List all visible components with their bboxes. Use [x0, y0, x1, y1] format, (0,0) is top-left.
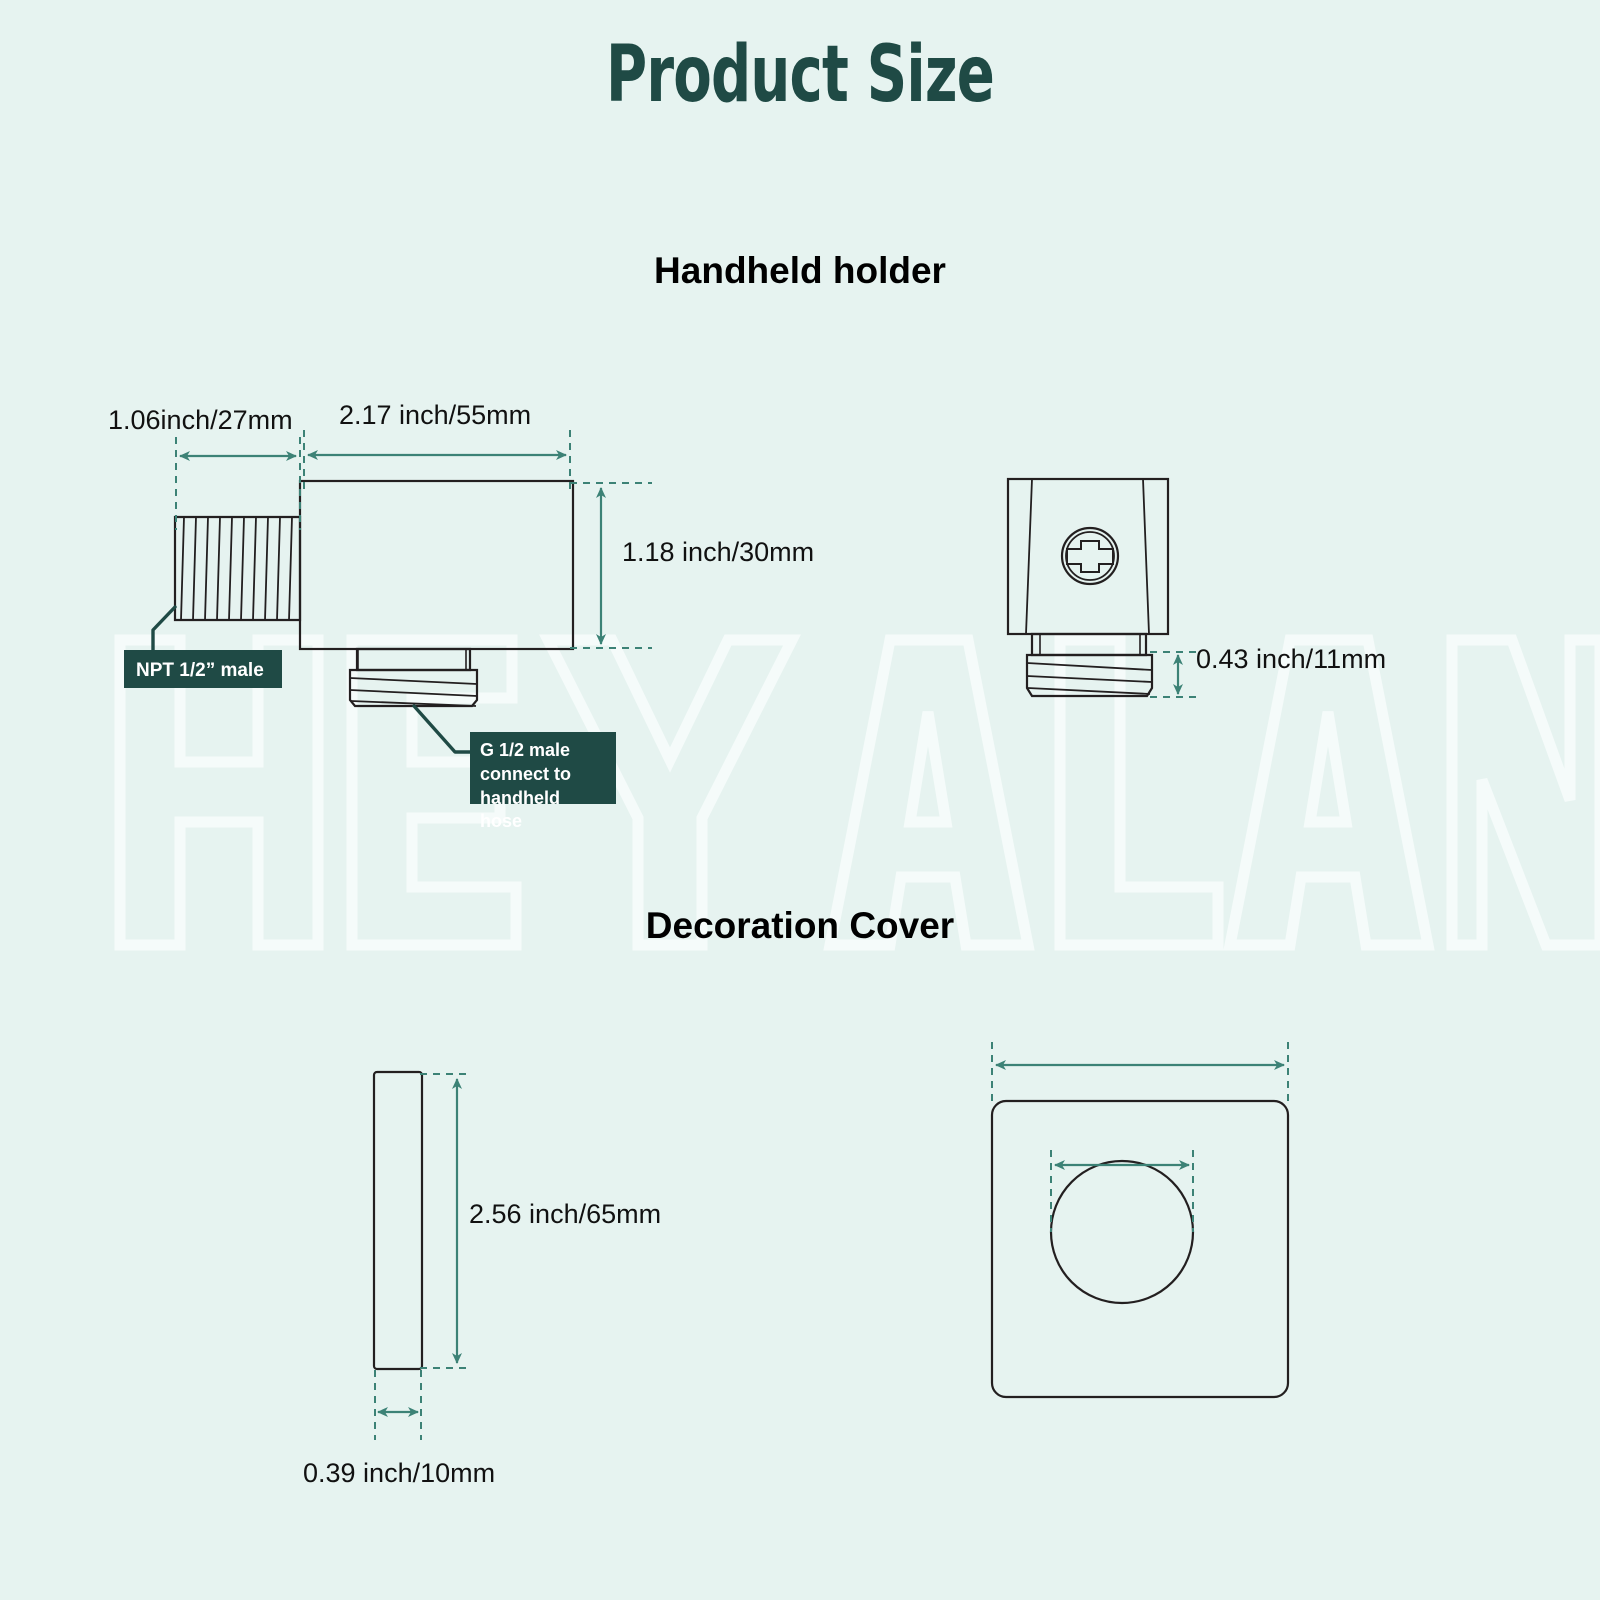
- holder-front-view: [1008, 479, 1168, 696]
- diagram-canvas: Product Size Handheld holder Decoration …: [0, 0, 1600, 1600]
- dimline-cover-hole-diameter: [1051, 1150, 1193, 1232]
- dim-label-body-width: 2.17 inch/55mm: [339, 400, 531, 431]
- decoration-cover-face-view: [992, 1101, 1288, 1397]
- g-half-male-boss-side: [350, 649, 477, 706]
- holder-body-side: [300, 481, 573, 649]
- cover-center-hole: [1051, 1161, 1193, 1303]
- callout-g-half-male: G 1/2 male connect to handheld hose: [470, 732, 616, 804]
- dim-label-body-height: 1.18 inch/30mm: [622, 537, 814, 568]
- dimline-cover-thickness: [375, 1370, 421, 1440]
- dim-label-cover-height: 2.56 inch/65mm: [469, 1199, 661, 1230]
- dim-label-npt-thread-length: 1.06inch/27mm: [108, 405, 293, 436]
- dim-label-cover-thickness: 0.39 inch/10mm: [303, 1458, 495, 1489]
- phillips-screw-icon: [1062, 528, 1118, 584]
- leader-npt: [153, 607, 175, 652]
- leader-g12: [414, 706, 474, 752]
- dim-label-g12-thread-length: 0.43 inch/11mm: [1196, 644, 1386, 675]
- dimline-cover-height: [420, 1074, 470, 1368]
- dimline-cover-face-width: [992, 1042, 1288, 1104]
- npt-male-thread: [175, 517, 300, 620]
- callout-npt-male: NPT 1/2” male: [124, 650, 282, 688]
- decoration-cover-edge-view: [374, 1072, 422, 1369]
- technical-drawing: [0, 0, 1600, 1600]
- dimline-g12-thread-length: [1150, 652, 1196, 697]
